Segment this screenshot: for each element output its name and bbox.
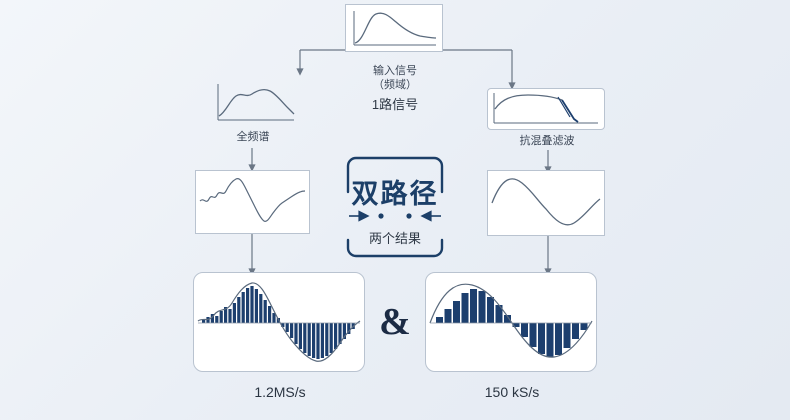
anti-alias-trace (488, 89, 604, 129)
ampersand-operator: & (373, 300, 417, 344)
input-signal-count: 1路信号 (340, 98, 450, 112)
diagram-canvas: 输入信号 （频域） 1路信号 全频谱 抗混叠滤波 双路径 (0, 0, 790, 420)
filtered-sine-plot (487, 170, 605, 236)
input-signal-caption-2: （频域） (340, 78, 450, 92)
input-signal-plot (345, 4, 443, 52)
input-signal-trace (346, 5, 442, 51)
full-spectrum-plot (208, 78, 298, 126)
slow-rate-plot (425, 272, 597, 372)
full-spectrum-caption: 全频谱 (207, 130, 299, 144)
full-spectrum-time-plot (195, 170, 310, 234)
slow-rate-bars (426, 273, 596, 371)
full-spectrum-time-trace (196, 171, 309, 233)
dual-path-label: 双路径 (348, 158, 442, 224)
slow-rate-caption: 150 kS/s (427, 385, 597, 399)
anti-alias-caption: 抗混叠滤波 (490, 134, 604, 148)
full-spectrum-trace (208, 78, 298, 126)
input-signal-caption-1: 输入信号 (340, 64, 450, 78)
filtered-sine-trace (488, 171, 604, 235)
fast-rate-caption: 1.2MS/s (195, 385, 365, 399)
hub-sub-caption: 两个结果 (340, 232, 450, 246)
fast-rate-bars (194, 273, 364, 371)
fast-rate-plot (193, 272, 365, 372)
anti-alias-plot (487, 88, 605, 130)
